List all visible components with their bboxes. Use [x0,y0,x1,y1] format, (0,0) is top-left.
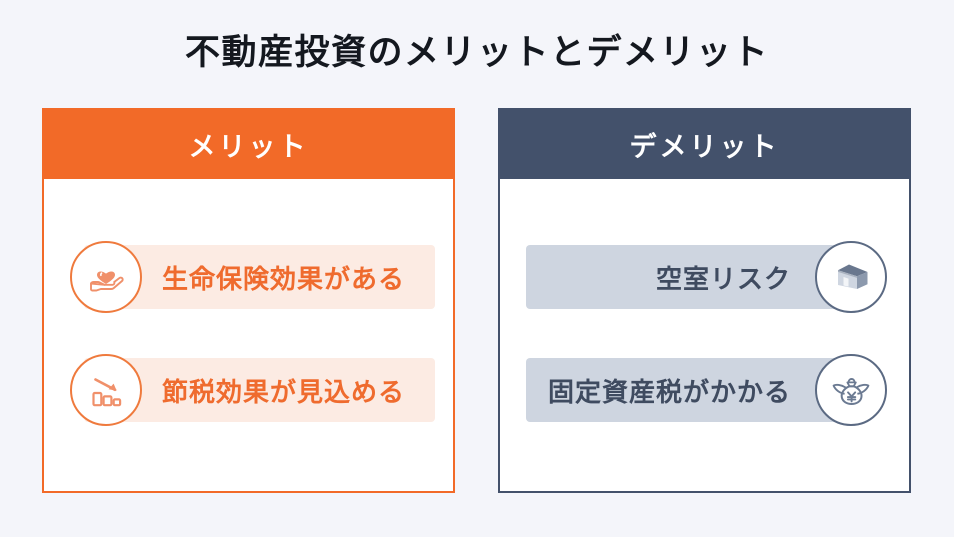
merit-card-header: メリット [44,110,453,179]
merit-card: メリット 生命保険効果がある [42,108,455,493]
infographic-canvas: 不動産投資のメリットとデメリット メリット 生命保険効果がある [0,0,954,537]
demerit-item-1-label: 空室リスク [656,259,791,296]
merit-item-2-label: 節税効果が見込める [162,372,405,409]
declining-bar-chart-icon [84,368,128,412]
merit-card-body: 生命保険効果がある [44,179,453,491]
merit-item-2[interactable]: 節税効果が見込める [44,354,453,426]
demerit-item-1[interactable]: 空室リスク [500,241,909,313]
page-title: 不動産投資のメリットとデメリット [0,32,954,74]
winged-money-bag-yen-icon [829,368,873,412]
demerit-card-body: 空室リスク [500,179,909,491]
demerit-card-header: デメリット [500,110,909,179]
demerit-card: デメリット 空室リスク [498,108,911,493]
merit-item-1[interactable]: 生命保険効果がある [44,241,453,313]
demerit-item-1-badge [815,241,887,313]
merit-item-2-badge [70,354,142,426]
merit-item-1-label: 生命保険効果がある [162,259,405,296]
demerit-item-2-badge [815,354,887,426]
merit-item-1-badge [70,241,142,313]
house-icon [829,255,873,299]
demerit-item-2-label: 固定資産税がかかる [548,372,791,409]
demerit-item-2[interactable]: 固定資産税がかかる [500,354,909,426]
hand-heart-icon [84,255,128,299]
